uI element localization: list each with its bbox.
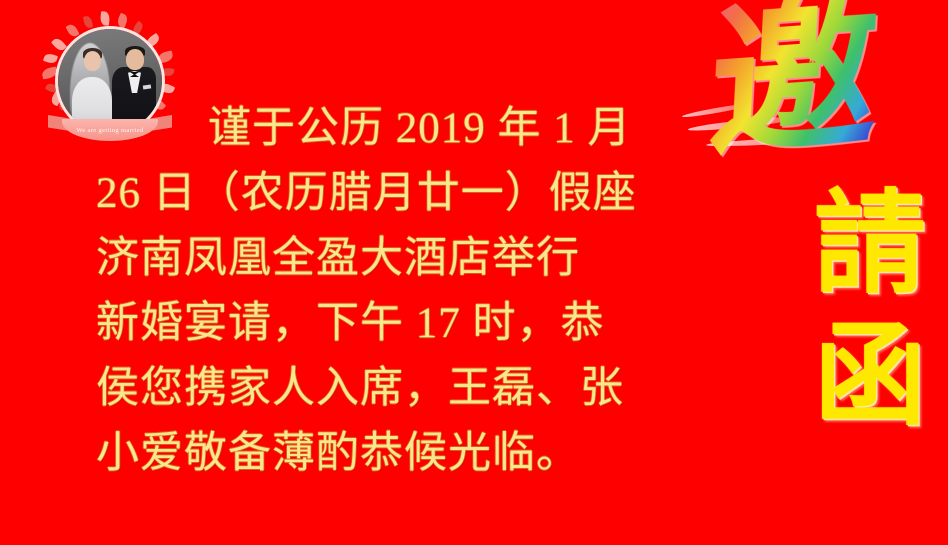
groom-face [126,49,144,70]
seal-char-han: 函 [806,310,934,442]
bride-face [84,51,101,71]
invitation-line-6: 小爱敬备薄酌恭候光临。 [96,421,716,486]
yao-glyph: 邀 [705,0,883,172]
invitation-text-block: 谨于公历 2019 年 1 月 26 日（农历腊月廿一）假座 济南凤凰全盈大酒店… [96,96,716,486]
invitation-line-5: 侯您携家人入席，王磊、张 [96,356,716,421]
invitation-line-1: 谨于公历 2019 年 1 月 [96,96,716,161]
invitation-line-4: 新婚宴请，下午 17 时，恭 [96,291,716,356]
invitation-line-3: 济南凤凰全盈大酒店举行 [96,226,716,291]
invitation-line-2: 26 日（农历腊月廿一）假座 [96,161,716,226]
wedding-invitation-card: We are getting married 谨于公历 2019 年 1 月 2… [0,0,948,545]
seal-script-column: 請 函 [806,178,934,442]
seal-char-qing: 請 [806,178,934,310]
rainbow-yao-calligraphy: 邀 [696,2,886,180]
